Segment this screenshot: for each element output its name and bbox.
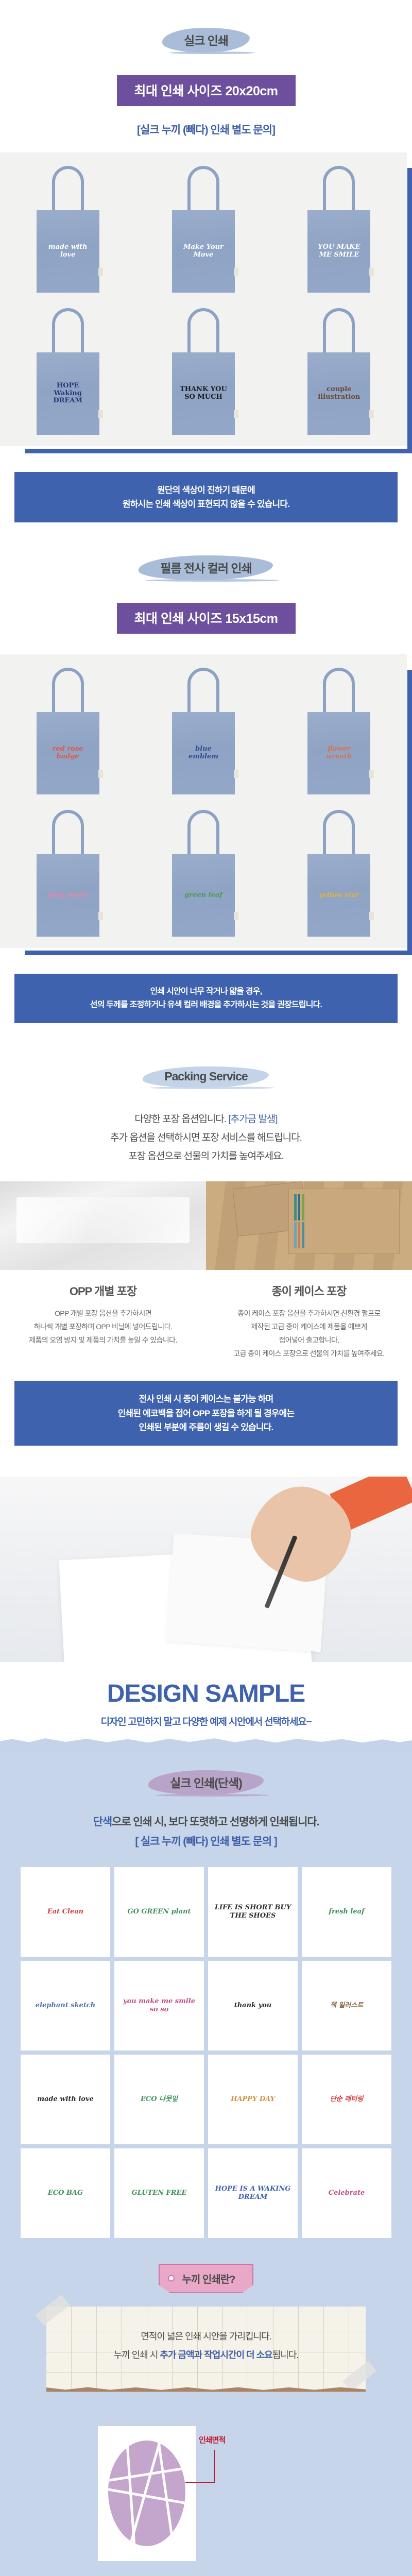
tote-bag: green leaf — [172, 810, 235, 937]
notice-line-1: 인쇄 시안이 너무 작거나 얇을 경우, — [23, 985, 389, 998]
notice-line-1: 전사 인쇄 시 종이 케이스는 불가능 하며 — [23, 1392, 389, 1406]
design-sample-label: elephant sketch — [36, 2002, 95, 2010]
silk-single-heading-wrap: 실크 인쇄(단색) — [0, 1768, 412, 1797]
film-print-notice: 인쇄 시안이 너무 작거나 얇을 경우, 선의 두께를 조정하거나 유색 컬러 … — [14, 974, 398, 1023]
strip-accent-bottom — [25, 951, 412, 955]
design-sample-label: GO GREEN plant — [128, 1908, 191, 1916]
desc-line-1: OPP 개별 포장 옵션을 추가하시면 — [55, 1309, 151, 1317]
tote-bag: red rose badge — [37, 668, 99, 794]
packing-option-paper-case: 종이 케이스 포장 종이 케이스 포장 옵션을 추가하시면 친환경 펄프로 제작… — [206, 1282, 412, 1361]
film-print-size-chip: 최대 인쇄 사이즈 15x15cm — [117, 603, 296, 634]
torn-edge-divider — [0, 1733, 412, 1751]
bag-handle-icon — [187, 308, 219, 340]
packing-option-columns: OPP 개별 포장 OPP 개별 포장 옵션을 추가하시면 하나씩 개별 포장하… — [0, 1270, 412, 1361]
film-print-size-wrap: 최대 인쇄 사이즈 15x15cm — [0, 603, 412, 634]
bag-handle-icon — [52, 668, 84, 700]
notice-line-1: 원단의 색상이 진하기 때문에 — [23, 483, 389, 497]
bag-handle-icon — [52, 166, 84, 198]
notice-line-3: 인쇄된 부분에 주름이 생길 수 있습니다. — [23, 1420, 389, 1434]
packing-option-desc: OPP 개별 포장 옵션을 추가하시면 하나씩 개별 포장하며 OPP 비닐에 … — [11, 1307, 195, 1347]
bag-print-art: couple illustration — [313, 384, 365, 403]
design-sample-title: DESIGN SAMPLE — [0, 1680, 412, 1708]
nukki-line-2: 누끼 인쇄 시 추가 금액과 작업시간이 더 소요됩니다. — [61, 2346, 351, 2364]
nukki-note-paper: 면적이 넓은 인쇄 시안을 가리킵니다. 누끼 인쇄 시 추가 금액과 작업시간… — [46, 2307, 366, 2392]
silk-bag-photo-strip: made with love Make Your Move YOU MAKE M… — [0, 152, 412, 446]
bag-print-art: red rose badge — [42, 743, 94, 763]
bag-print-art: HOPE Waking DREAM — [42, 380, 94, 408]
bag-print-art: THANK YOU SO MUCH — [178, 384, 229, 403]
tote-bag: HOPE Waking DREAM — [37, 308, 99, 435]
desc-line-3: 제품의 오염 방지 및 제품의 가치를 높일 수 있습니다. — [29, 1336, 177, 1344]
desc-line-4: 고급 종이 케이스 포장으로 선물의 가치를 높여주세요. — [233, 1349, 384, 1358]
design-sample-cell[interactable]: ECO 나뭇잎 — [114, 2055, 204, 2144]
nukki-tag: 누끼 인쇄란? — [159, 2264, 254, 2293]
tote-bag: flower wreath — [307, 668, 370, 794]
bag-body: THANK YOU SO MUCH — [172, 352, 235, 435]
bag-print-art: green leaf — [182, 890, 225, 902]
design-sample-cell[interactable]: 책 일러스트 — [302, 1961, 391, 2050]
silk-sample-grid: Eat Clean GO GREEN plant LIFE IS SHORT B… — [21, 1867, 391, 2238]
bag-handle-icon — [52, 810, 84, 842]
bag-handle-icon — [323, 810, 355, 842]
packing-option-title: 종이 케이스 포장 — [217, 1282, 401, 1299]
box-art-tile — [302, 1222, 304, 1248]
notice-line-2: 인쇄된 에코백을 접어 OPP 포장을 하게 될 경우에는 — [23, 1406, 389, 1420]
design-sample-cell[interactable]: elephant sketch — [21, 1961, 110, 2050]
design-sample-label: fresh leaf — [329, 1908, 364, 1916]
tote-bag: YOU MAKE ME SMILE — [307, 166, 370, 293]
bag-body: YOU MAKE ME SMILE — [307, 210, 370, 293]
desc-line-2: 하나씩 개별 포장하며 OPP 비닐에 넣어드립니다. — [34, 1323, 172, 1331]
bag-body: yellow star — [307, 854, 370, 937]
packing-notice: 전사 인쇄 시 종이 케이스는 불가능 하며 인쇄된 에코백을 접어 OPP 포… — [14, 1381, 398, 1446]
desc-line-2: 제작된 고급 종이 케이스에 제품을 예쁘게 — [251, 1323, 367, 1331]
desc-line-1: 종이 케이스 포장 옵션을 추가하시면 친환경 펄프로 — [237, 1309, 381, 1317]
notice-line-2: 선의 두께를 조정하거나 유색 컬러 배경을 추가하시는 것을 권장드립니다. — [23, 998, 389, 1012]
design-sample-label: GLUTEN FREE — [132, 2189, 187, 2197]
bag-handle-icon — [187, 810, 219, 842]
silk-print-heading-wrap: 실크 인쇄 — [0, 26, 412, 55]
design-sample-label: ECO BAG — [48, 2189, 83, 2197]
bag-handle-icon — [323, 166, 355, 198]
bag-body: Make Your Move — [172, 210, 235, 293]
design-sample-cell[interactable]: HAPPY DAY — [208, 2055, 298, 2144]
tape-icon — [342, 2361, 376, 2392]
silk-bag-row-2: HOPE Waking DREAM THANK YOU SO MUCH coup… — [0, 308, 407, 435]
product-detail-page: 실크 인쇄 최대 인쇄 사이즈 20x20cm [실크 누끼 (빼다) 인쇄 별… — [0, 0, 412, 2576]
tape-icon — [36, 2295, 70, 2326]
design-sample-label: Eat Clean — [47, 1908, 83, 1916]
callout-leader-line — [214, 2450, 215, 2483]
bag-print-art: pink patch — [46, 890, 90, 902]
section-packing-service: Packing Service 다양한 포장 옵션입니다. [추가금 발생] 추… — [0, 1064, 412, 1477]
silk-single-description: 단색으로 인쇄 시, 보다 또렷하고 선명하게 인쇄됩니다. [ 실크 누끼 (… — [0, 1812, 412, 1852]
silk-single-highlight: 단색 — [93, 1816, 112, 1828]
nukki-line-2-start: 누끼 인쇄 시 — [114, 2350, 160, 2360]
design-sample-label: 단순 레터링 — [330, 2095, 363, 2104]
box-art-tile — [298, 1194, 301, 1221]
packing-intro-line-1: 다양한 포장 옵션입니다. [추가금 발생] — [0, 1110, 412, 1129]
packing-option-opp: OPP 개별 포장 OPP 개별 포장 옵션을 추가하시면 하나씩 개별 포장하… — [0, 1282, 206, 1361]
desc-line-3: 접어넣어 출고합니다. — [279, 1336, 339, 1344]
silk-print-size-wrap: 최대 인쇄 사이즈 20x20cm — [0, 75, 412, 106]
design-sample-hero-photo — [0, 1477, 412, 1662]
nukki-line-1: 면적이 넓은 인쇄 시안을 가리킵니다. — [61, 2327, 351, 2346]
tote-bag: pink patch — [37, 810, 99, 937]
paper-case-photo — [206, 1181, 412, 1270]
film-print-heading-wrap: 필름 전사 컬러 인쇄 — [0, 553, 412, 582]
tote-bag: THANK YOU SO MUCH — [172, 308, 235, 435]
nukki-line-2-highlight: 추가 금액과 작업시간이 더 소요 — [160, 2350, 272, 2360]
silk-print-heading: 실크 인쇄 — [162, 26, 250, 55]
section-design-sample: DESIGN SAMPLE 디자인 고민하지 말고 다양한 예제 시안에서 선택… — [0, 1477, 412, 1751]
design-sample-label: 책 일러스트 — [330, 2002, 363, 2010]
bag-print-art: yellow star — [317, 890, 362, 902]
bag-body: flower wreath — [307, 712, 370, 794]
print-area-diagram: 인쇄면적 — [98, 2426, 314, 2561]
bag-body: HOPE Waking DREAM — [37, 352, 99, 435]
bag-print-art: flower wreath — [313, 743, 365, 763]
print-area-callout: 인쇄면적 — [199, 2426, 225, 2445]
silk-single-line-1: 단색으로 인쇄 시, 보다 또렷하고 선명하게 인쇄됩니다. — [0, 1812, 412, 1832]
nukki-tag-wrap: 누끼 인쇄란? — [0, 2264, 412, 2293]
design-sample-cell[interactable]: made with love — [21, 2055, 110, 2144]
film-print-heading: 필름 전사 컬러 인쇄 — [139, 553, 273, 582]
packing-intro-line-2: 추가 옵션을 선택하시면 포장 서비스를 해드립니다. — [0, 1129, 412, 1147]
packing-option-desc: 종이 케이스 포장 옵션을 추가하시면 친환경 펄프로 제작된 고급 종이 케이… — [217, 1307, 401, 1361]
box-art-tile — [302, 1194, 304, 1221]
section-film-print: 필름 전사 컬러 인쇄 최대 인쇄 사이즈 15x15cm red rose b… — [0, 553, 412, 1064]
film-bag-row-1: red rose badge blue emblem flower wreath — [0, 668, 407, 794]
design-sample-cell[interactable]: Celebrate — [302, 2148, 391, 2238]
box-art-tile — [298, 1222, 301, 1248]
tote-bag: yellow star — [307, 810, 370, 937]
silk-print-notice: 원단의 색상이 진하기 때문에 원하시는 인쇄 색상이 표현되지 않을 수 있습… — [14, 472, 398, 522]
bag-handle-icon — [52, 308, 84, 340]
bag-print-art: Make Your Move — [178, 242, 229, 261]
design-sample-label: thank you — [234, 2002, 272, 2010]
packing-option-title: OPP 개별 포장 — [11, 1282, 195, 1299]
strip-accent-right — [407, 168, 412, 453]
silk-single-line-2: [ 실크 누끼 (빼다) 인쇄 별도 문의 ] — [0, 1832, 412, 1852]
box-art-tile — [294, 1194, 297, 1221]
bag-body: couple illustration — [307, 352, 370, 435]
strip-accent-right — [407, 670, 412, 955]
shape-line — [156, 2441, 177, 2546]
bag-print-art: YOU MAKE ME SMILE — [313, 242, 365, 261]
design-sample-cell[interactable]: thank you — [208, 1961, 298, 2050]
packing-heading: Packing Service — [143, 1064, 269, 1090]
bag-body: blue emblem — [172, 712, 235, 794]
packing-heading-wrap: Packing Service — [0, 1064, 412, 1090]
packing-photos — [0, 1181, 412, 1270]
design-sample-cell[interactable]: 단순 레터링 — [302, 2055, 391, 2144]
design-sample-cell[interactable]: Eat Clean — [21, 1867, 110, 1957]
tote-bag: couple illustration — [307, 308, 370, 435]
design-sample-cell[interactable]: GO GREEN plant — [114, 1867, 204, 1957]
design-sample-subtitle: 디자인 고민하지 말고 다양한 예제 시안에서 선택하세요~ — [0, 1714, 412, 1728]
tote-bag: Make Your Move — [172, 166, 235, 293]
box-art-tile — [294, 1222, 297, 1248]
bag-handle-icon — [323, 308, 355, 340]
design-sample-label: made with love — [37, 2095, 94, 2104]
packing-intro-text: 다양한 포장 옵션입니다. — [134, 1114, 228, 1125]
silk-bag-strip-inner: made with love Make Your Move YOU MAKE M… — [0, 152, 407, 446]
film-bag-strip-inner: red rose badge blue emblem flower wreath — [0, 654, 407, 948]
silk-print-subnote: [실크 누끼 (빼다) 인쇄 별도 문의] — [0, 122, 412, 137]
tote-bag: blue emblem — [172, 668, 235, 794]
bag-handle-icon — [187, 668, 219, 700]
bag-body: made with love — [37, 210, 99, 293]
design-sample-cell[interactable]: HOPE IS A WAKING DREAM — [208, 2148, 298, 2238]
tote-bag: made with love — [37, 166, 99, 293]
silk-single-rest: 으로 인쇄 시, 보다 또렷하고 선명하게 인쇄됩니다. — [112, 1816, 319, 1828]
design-sample-cell[interactable]: ECO BAG — [21, 2148, 110, 2238]
packing-intro: 다양한 포장 옵션입니다. [추가금 발생] 추가 옵션을 선택하시면 포장 서… — [0, 1110, 412, 1166]
design-sample-label: HOPE IS A WAKING DREAM — [212, 2185, 294, 2201]
design-sample-title-block: DESIGN SAMPLE 디자인 고민하지 말고 다양한 예제 시안에서 선택… — [0, 1662, 412, 1733]
section-silk-single-color: 실크 인쇄(단색) 단색으로 인쇄 시, 보다 또렷하고 선명하게 인쇄됩니다.… — [0, 1751, 412, 2576]
silk-print-size-chip: 최대 인쇄 사이즈 20x20cm — [117, 75, 296, 106]
silk-single-heading: 실크 인쇄(단색) — [148, 1768, 264, 1797]
film-bag-photo-strip: red rose badge blue emblem flower wreath — [0, 654, 412, 948]
paper-box-front — [288, 1189, 400, 1254]
bag-body: pink patch — [37, 854, 99, 937]
section-silk-print: 실크 인쇄 최대 인쇄 사이즈 20x20cm [실크 누끼 (빼다) 인쇄 별… — [0, 0, 412, 553]
print-area-card — [98, 2426, 196, 2561]
design-sample-label: LIFE IS SHORT BUY THE SHOES — [212, 1904, 294, 1920]
design-sample-label: HAPPY DAY — [231, 2095, 275, 2104]
bag-body: red rose badge — [37, 712, 99, 794]
packing-intro-line-3: 포장 옵션으로 선물의 가치를 높여주세요. — [0, 1147, 412, 1166]
film-bag-row-2: pink patch green leaf yellow star — [0, 810, 407, 937]
packing-extra-fee-badge: [추가금 발생] — [228, 1114, 277, 1125]
design-sample-label: you make me smile so so — [118, 1997, 200, 2013]
design-sample-cell[interactable]: GLUTEN FREE — [114, 2148, 204, 2238]
nukki-line-2-end: 됩니다. — [272, 2350, 299, 2360]
strip-accent-bottom — [25, 449, 412, 453]
design-sample-label: ECO 나뭇잎 — [141, 2095, 178, 2104]
opp-packaging-photo — [0, 1181, 206, 1270]
design-sample-label: Celebrate — [329, 2189, 365, 2197]
design-sample-cell[interactable]: fresh leaf — [302, 1867, 391, 1957]
notice-line-2: 원하시는 인쇄 색상이 표현되지 않을 수 있습니다. — [23, 497, 389, 511]
bag-handle-icon — [323, 668, 355, 700]
bag-print-art: made with love — [42, 242, 94, 261]
bag-body: green leaf — [172, 854, 235, 937]
silk-bag-row-1: made with love Make Your Move YOU MAKE M… — [0, 166, 407, 293]
design-sample-cell[interactable]: you make me smile so so — [114, 1961, 204, 2050]
bag-print-art: blue emblem — [178, 743, 229, 763]
design-sample-cell[interactable]: LIFE IS SHORT BUY THE SHOES — [208, 1867, 298, 1957]
print-area-shape — [108, 2441, 185, 2546]
bag-handle-icon — [187, 166, 219, 198]
shape-line — [108, 2464, 185, 2482]
print-area-label: 인쇄면적 — [199, 2434, 225, 2445]
